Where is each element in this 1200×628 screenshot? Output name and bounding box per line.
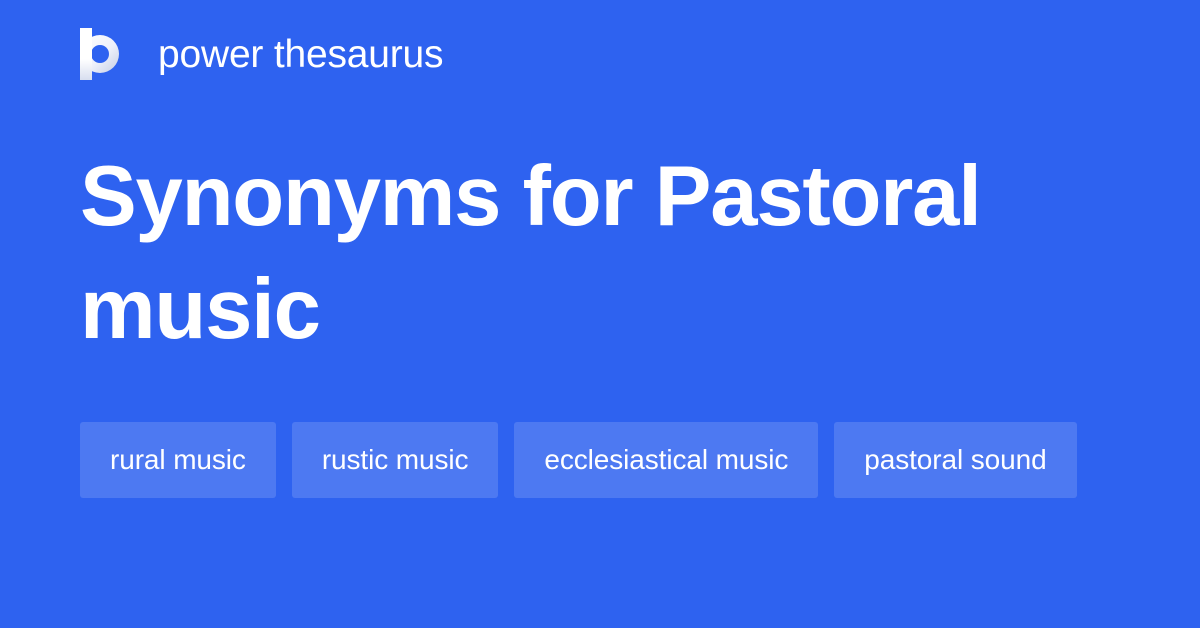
page-title: Synonyms for Pastoral music [80,140,1040,366]
brand-name: power thesaurus [158,35,443,74]
synonym-tag-list: rural music rustic music ecclesiastical … [80,422,1120,498]
synonym-tag[interactable]: rural music [80,422,276,498]
power-thesaurus-b-logo-icon [80,28,126,80]
share-card: power thesaurus Synonyms for Pastoral mu… [0,0,1200,628]
synonym-tag[interactable]: pastoral sound [834,422,1076,498]
brand-header[interactable]: power thesaurus [80,28,443,80]
synonym-tag[interactable]: ecclesiastical music [514,422,818,498]
synonym-tag[interactable]: rustic music [292,422,499,498]
